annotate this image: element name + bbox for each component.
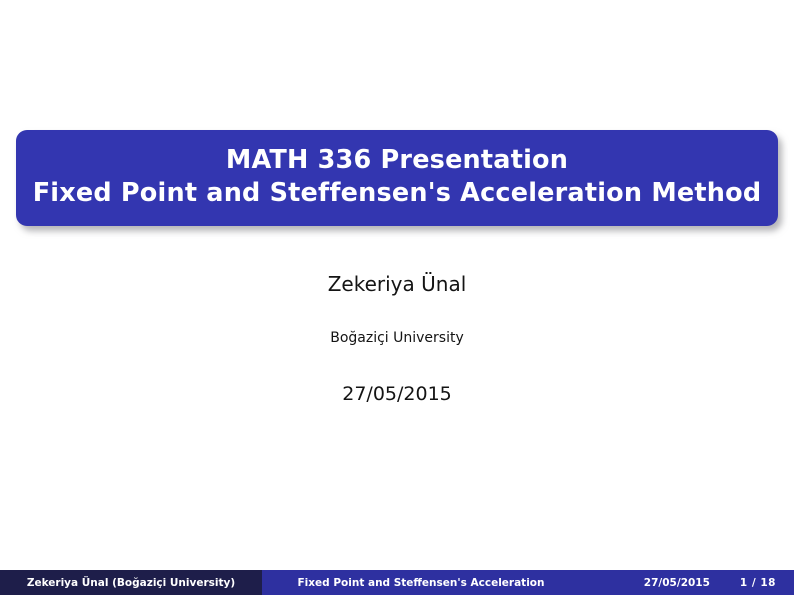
presentation-slide: MATH 336 Presentation Fixed Point and St…	[0, 0, 794, 595]
presentation-title-line-2: Fixed Point and Steffensen's Acceleratio…	[26, 177, 768, 210]
footline-right-group: 27/05/2015 1 / 18	[580, 570, 794, 595]
footline-author-institute: Zekeriya Ünal (Boğaziçi University)	[0, 570, 262, 595]
presentation-title-line-1: MATH 336 Presentation	[26, 144, 768, 177]
footline-short-title: Fixed Point and Steffensen's Acceleratio…	[262, 570, 580, 595]
presentation-date: 27/05/2015	[0, 383, 794, 406]
title-block: MATH 336 Presentation Fixed Point and St…	[16, 130, 778, 226]
footline-page-number: 1 / 18	[740, 577, 776, 589]
footline-date: 27/05/2015	[644, 577, 710, 589]
title-slide-metadata: Zekeriya Ünal Boğaziçi University 27/05/…	[0, 272, 794, 406]
author-name: Zekeriya Ünal	[0, 272, 794, 296]
institute-name: Boğaziçi University	[0, 330, 794, 347]
footline: Zekeriya Ünal (Boğaziçi University) Fixe…	[0, 570, 794, 595]
